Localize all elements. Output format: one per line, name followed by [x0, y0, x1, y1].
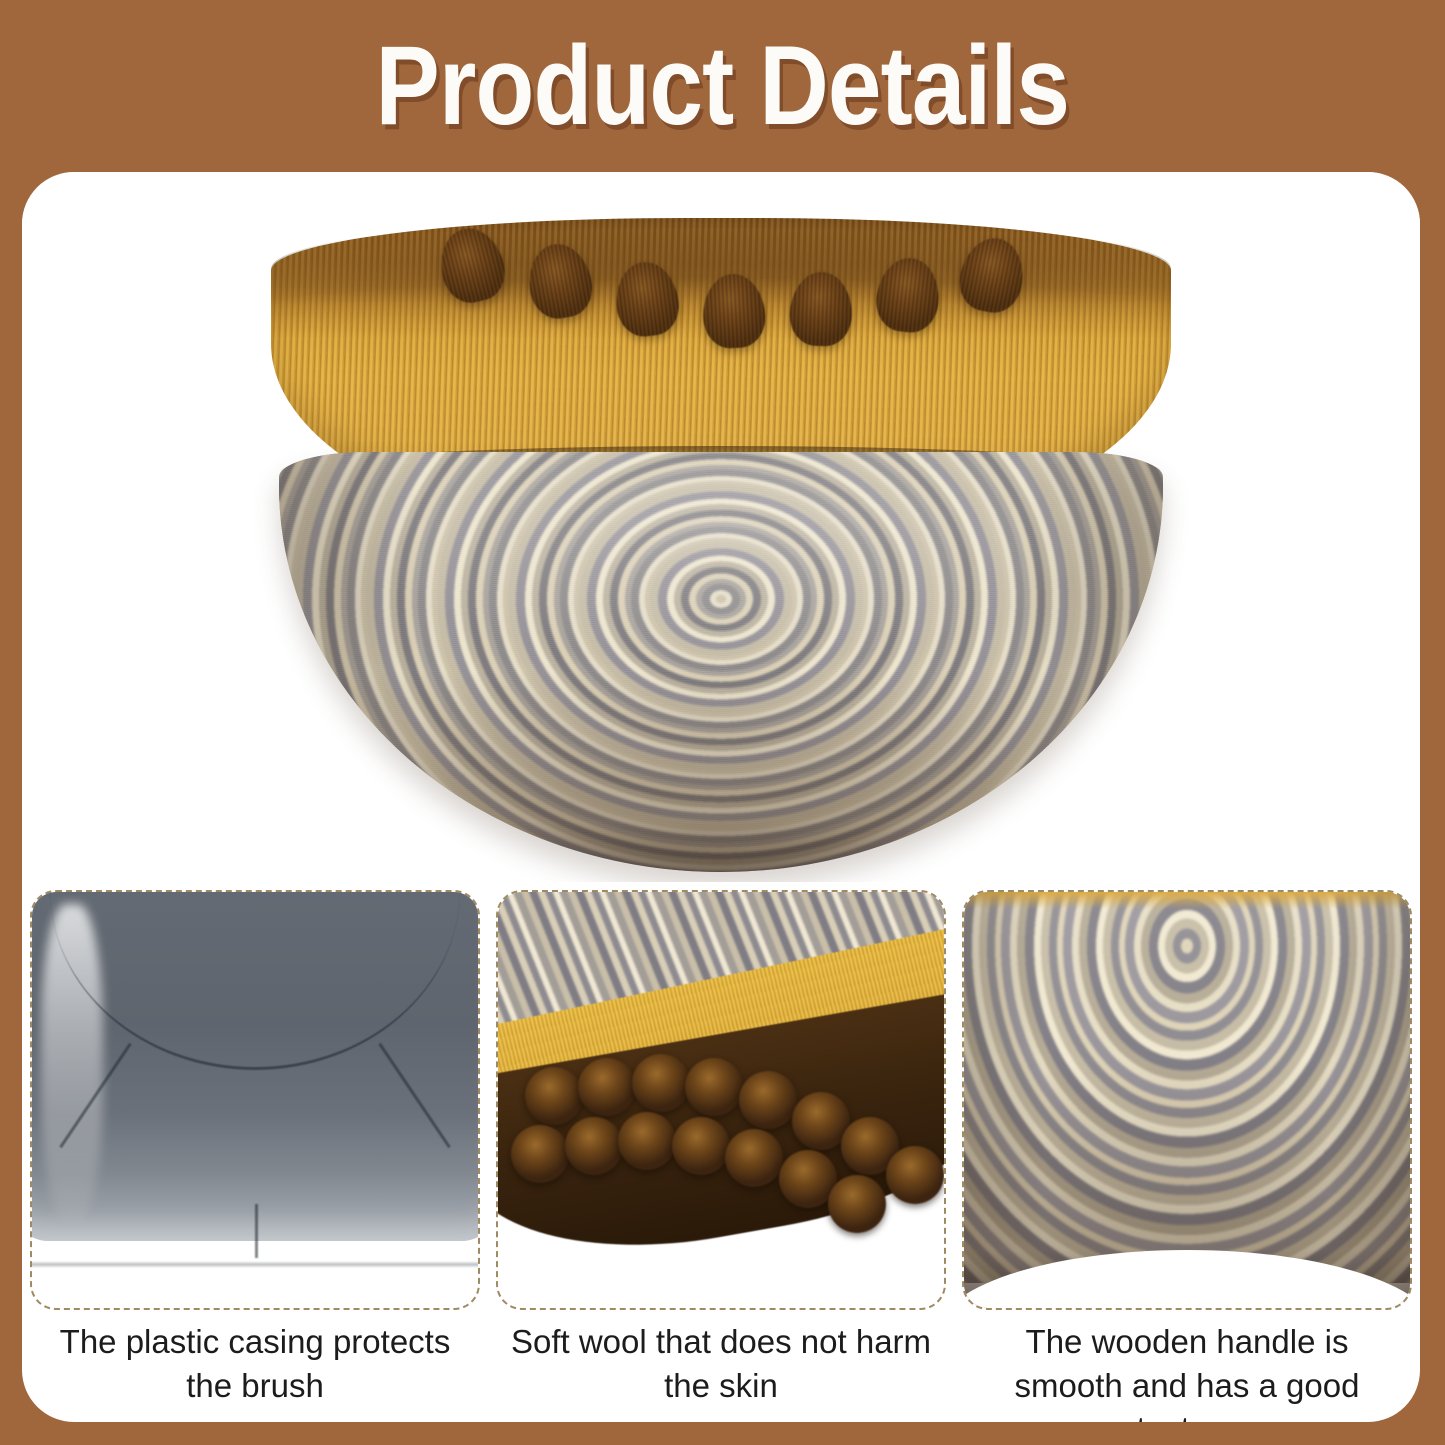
tuft: [955, 233, 1030, 317]
page-title: Product Details: [376, 30, 1070, 142]
thumb-image-soft-wool: [498, 892, 944, 1308]
hero-product-image: [22, 172, 1420, 882]
hero-stage: [271, 200, 1171, 870]
feature-thumb-soft-wool[interactable]: [496, 890, 946, 1310]
wooden-handle: [279, 452, 1163, 872]
feature-captions: The plastic casing protects the brush So…: [30, 1320, 1412, 1422]
wool-knob: [525, 1067, 583, 1125]
tuft: [612, 258, 683, 339]
wool-knob: [886, 1146, 944, 1204]
page-title-bar: Product Details: [0, 0, 1445, 172]
tuft: [701, 272, 767, 349]
tuft: [789, 271, 854, 347]
wooden-handle-shading: [964, 892, 1410, 1308]
wool-knob: [672, 1117, 730, 1175]
caption-wooden-handle: The wooden handle is smooth and has a go…: [962, 1320, 1412, 1422]
wool-knob: [565, 1117, 623, 1175]
tuft: [523, 239, 597, 323]
caption-soft-wool: Soft wool that does not harm the skin: [496, 1320, 946, 1422]
product-details-page: Product Details: [0, 0, 1445, 1445]
plastic-bottom-edge: [32, 1263, 478, 1266]
thumb-image-plastic-casing: [32, 892, 478, 1308]
tuft: [873, 255, 942, 335]
feature-thumb-plastic-casing[interactable]: [30, 890, 480, 1310]
feature-thumbnail-row: [30, 890, 1412, 1310]
thumb-image-wooden-handle: [964, 892, 1410, 1308]
wool-knob: [511, 1125, 569, 1183]
tuft: [433, 222, 511, 309]
bristle-tufts: [271, 200, 1171, 400]
content-card: The plastic casing protects the brush So…: [22, 172, 1420, 1422]
caption-plastic-casing: The plastic casing protects the brush: [30, 1320, 480, 1422]
wool-knob: [828, 1175, 886, 1233]
plastic-seam-bottom: [255, 1204, 258, 1258]
handle-shading: [279, 452, 1163, 872]
wool-knob: [632, 1054, 690, 1112]
feature-thumb-wooden-handle[interactable]: [962, 890, 1412, 1310]
wool-knob: [739, 1071, 797, 1129]
